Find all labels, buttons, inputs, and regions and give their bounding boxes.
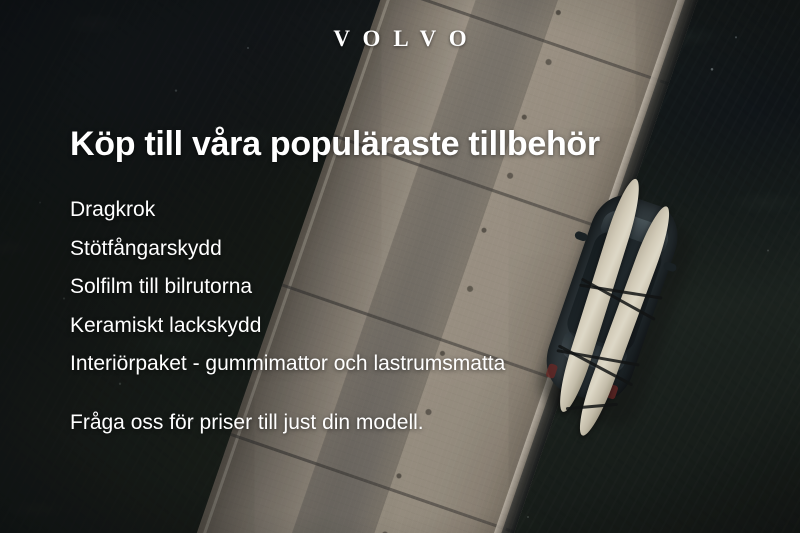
list-item: Stötfångarskydd xyxy=(70,230,505,269)
list-item: Solfilm till bilrutorna xyxy=(70,268,505,307)
list-item: Keramiskt lackskydd xyxy=(70,307,505,346)
volvo-accessories-banner: VOLVO Köp till våra populäraste tillbehö… xyxy=(0,0,800,533)
closing-call-to-action: Fråga oss för priser till just din model… xyxy=(70,411,424,435)
banner-content: VOLVO Köp till våra populäraste tillbehö… xyxy=(0,0,800,533)
list-item: Interiörpaket - gummimattor och lastrums… xyxy=(70,345,505,384)
accessories-list: Dragkrok Stötfångarskydd Solfilm till bi… xyxy=(70,191,505,384)
volvo-wordmark: VOLVO xyxy=(0,26,800,52)
list-item: Dragkrok xyxy=(70,191,505,230)
page-title: Köp till våra populäraste tillbehör xyxy=(70,126,600,163)
